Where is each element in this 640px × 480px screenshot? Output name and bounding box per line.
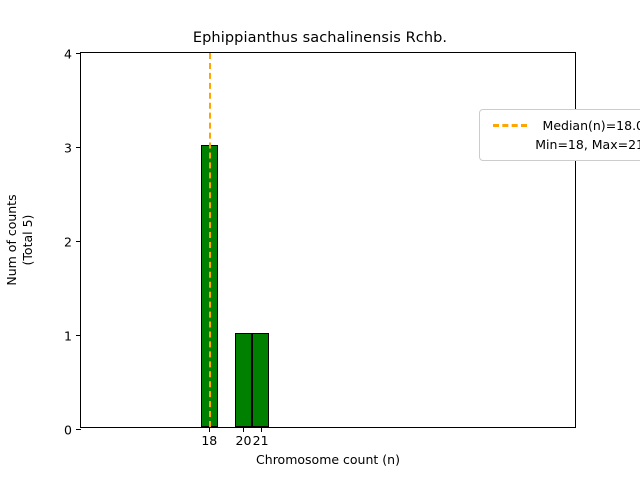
legend-entry-median: Median(n)=18.0 xyxy=(488,116,640,135)
y-tick-label: 4 xyxy=(64,47,72,62)
legend-entry-minmax: Min=18, Max=21 xyxy=(488,135,640,154)
legend-label-minmax: Min=18, Max=21 xyxy=(532,137,640,152)
dashed-line-icon xyxy=(493,124,527,127)
y-tick-label: 1 xyxy=(64,329,72,344)
y-axis-title-text: Num of counts (Total 5) xyxy=(4,194,35,285)
y-tick-mark: 1 xyxy=(76,335,81,336)
x-tick-mark xyxy=(261,427,262,432)
x-tick-mark xyxy=(243,427,244,432)
y-tick-mark: 2 xyxy=(76,241,81,242)
bar xyxy=(235,333,252,427)
y-tick-mark: 4 xyxy=(76,53,81,54)
y-tick-mark: 3 xyxy=(76,147,81,148)
x-tick-label: 21 xyxy=(253,433,269,448)
plot-area: 01234 182021 Median(n)=18.0 Min=18, Max=… xyxy=(80,52,576,428)
x-axis-title: Chromosome count (n) xyxy=(80,452,576,467)
y-axis-title: Num of counts (Total 5) xyxy=(0,52,40,428)
legend-box[interactable]: Median(n)=18.0 Min=18, Max=21 xyxy=(479,109,640,161)
legend-swatch-cell xyxy=(488,124,532,127)
y-tick-label: 0 xyxy=(64,423,72,438)
figure-canvas: Ephippianthus sachalinensis Rchb. 01234 … xyxy=(0,0,640,480)
median-line-icon xyxy=(209,53,211,427)
y-tick-label: 3 xyxy=(64,141,72,156)
x-tick-mark xyxy=(209,427,210,432)
x-tick-label: 20 xyxy=(236,433,252,448)
y-tick-label: 2 xyxy=(64,235,72,250)
bar xyxy=(252,333,269,427)
chart-title: Ephippianthus sachalinensis Rchb. xyxy=(0,30,640,46)
y-tick-mark: 0 xyxy=(76,429,81,430)
legend-label-median: Median(n)=18.0 xyxy=(532,118,640,133)
x-tick-label: 18 xyxy=(201,433,217,448)
